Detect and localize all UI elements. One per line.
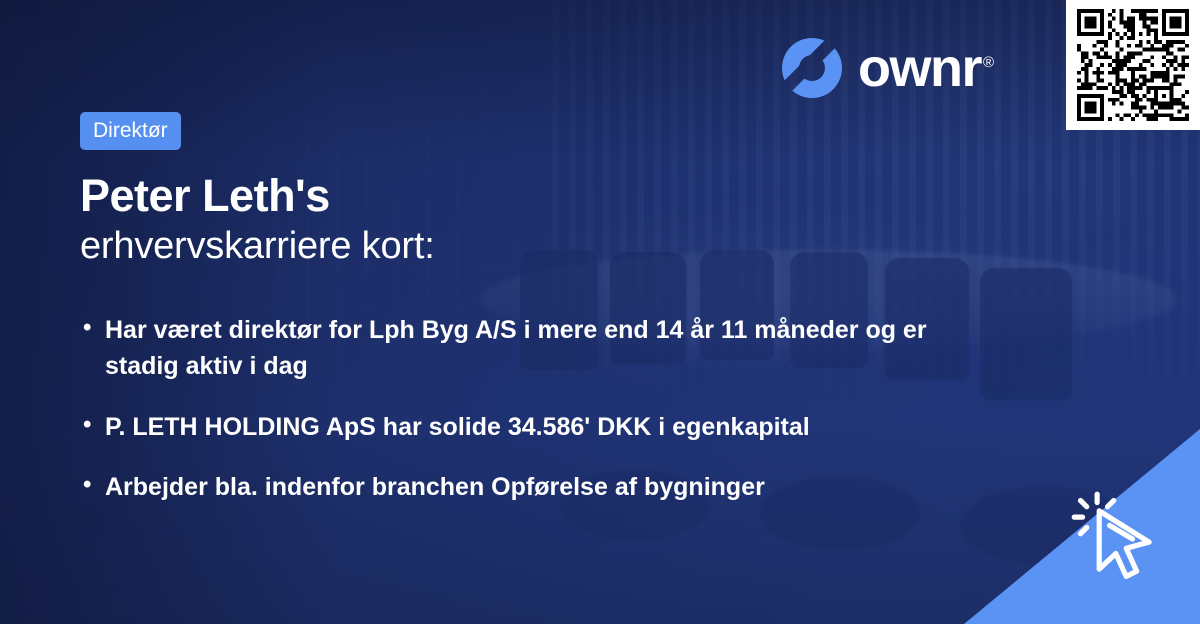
ownr-wordmark-text: ownr	[858, 38, 981, 98]
ownr-wordmark: ownr®	[858, 41, 993, 95]
ownr-logo-mark	[780, 36, 844, 100]
list-item: Arbejder bla. indenfor branchen Opførels…	[80, 469, 960, 505]
qr-code[interactable]	[1066, 0, 1200, 130]
fact-list: Har været direktør for Lph Byg A/S i mer…	[80, 312, 960, 529]
page-title: Peter Leth's	[80, 172, 980, 219]
ownr-logo[interactable]: ownr®	[780, 36, 993, 100]
page-subtitle: erhvervskarriere kort:	[80, 226, 980, 268]
list-item: P. LETH HOLDING ApS har solide 34.586' D…	[80, 409, 960, 445]
registered-trademark-icon: ®	[983, 54, 993, 71]
qr-code-image	[1077, 9, 1189, 121]
heading-block: Direktør Peter Leth's erhvervskarriere k…	[80, 112, 980, 268]
career-summary-card: ownr® Direktør Peter Leth's erhvervskarr…	[0, 0, 1200, 624]
list-item: Har været direktør for Lph Byg A/S i mer…	[80, 312, 960, 385]
click-cursor-icon	[1068, 488, 1172, 592]
role-badge: Direktør	[80, 112, 181, 150]
